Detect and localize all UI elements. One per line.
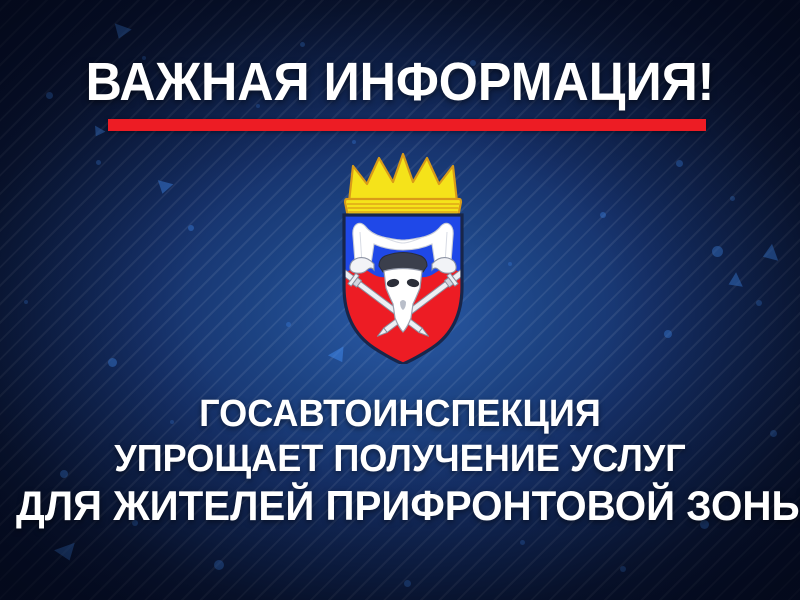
crown-icon: [345, 154, 461, 215]
shield: [339, 215, 467, 364]
poster-canvas: ВАЖНАЯ ИНФОРМАЦИЯ!: [0, 0, 800, 600]
message-line-1: ГОСАВТОИНСПЕКЦИЯ: [20, 392, 780, 437]
coat-of-arms-emblem: [327, 152, 479, 364]
page-title: ВАЖНАЯ ИНФОРМАЦИЯ!: [28, 55, 772, 109]
title-underline-divider: [108, 119, 706, 131]
message-line-2: УПРОЩАЕТ ПОЛУЧЕНИЕ УСЛУГ: [20, 437, 780, 482]
message-line-3: ДЛЯ ЖИТЕЛЕЙ ПРИФРОНТОВОЙ ЗОНЫ: [16, 482, 784, 530]
message-block: ГОСАВТОИНСПЕКЦИЯ УПРОЩАЕТ ПОЛУЧЕНИЕ УСЛУ…: [0, 392, 800, 530]
